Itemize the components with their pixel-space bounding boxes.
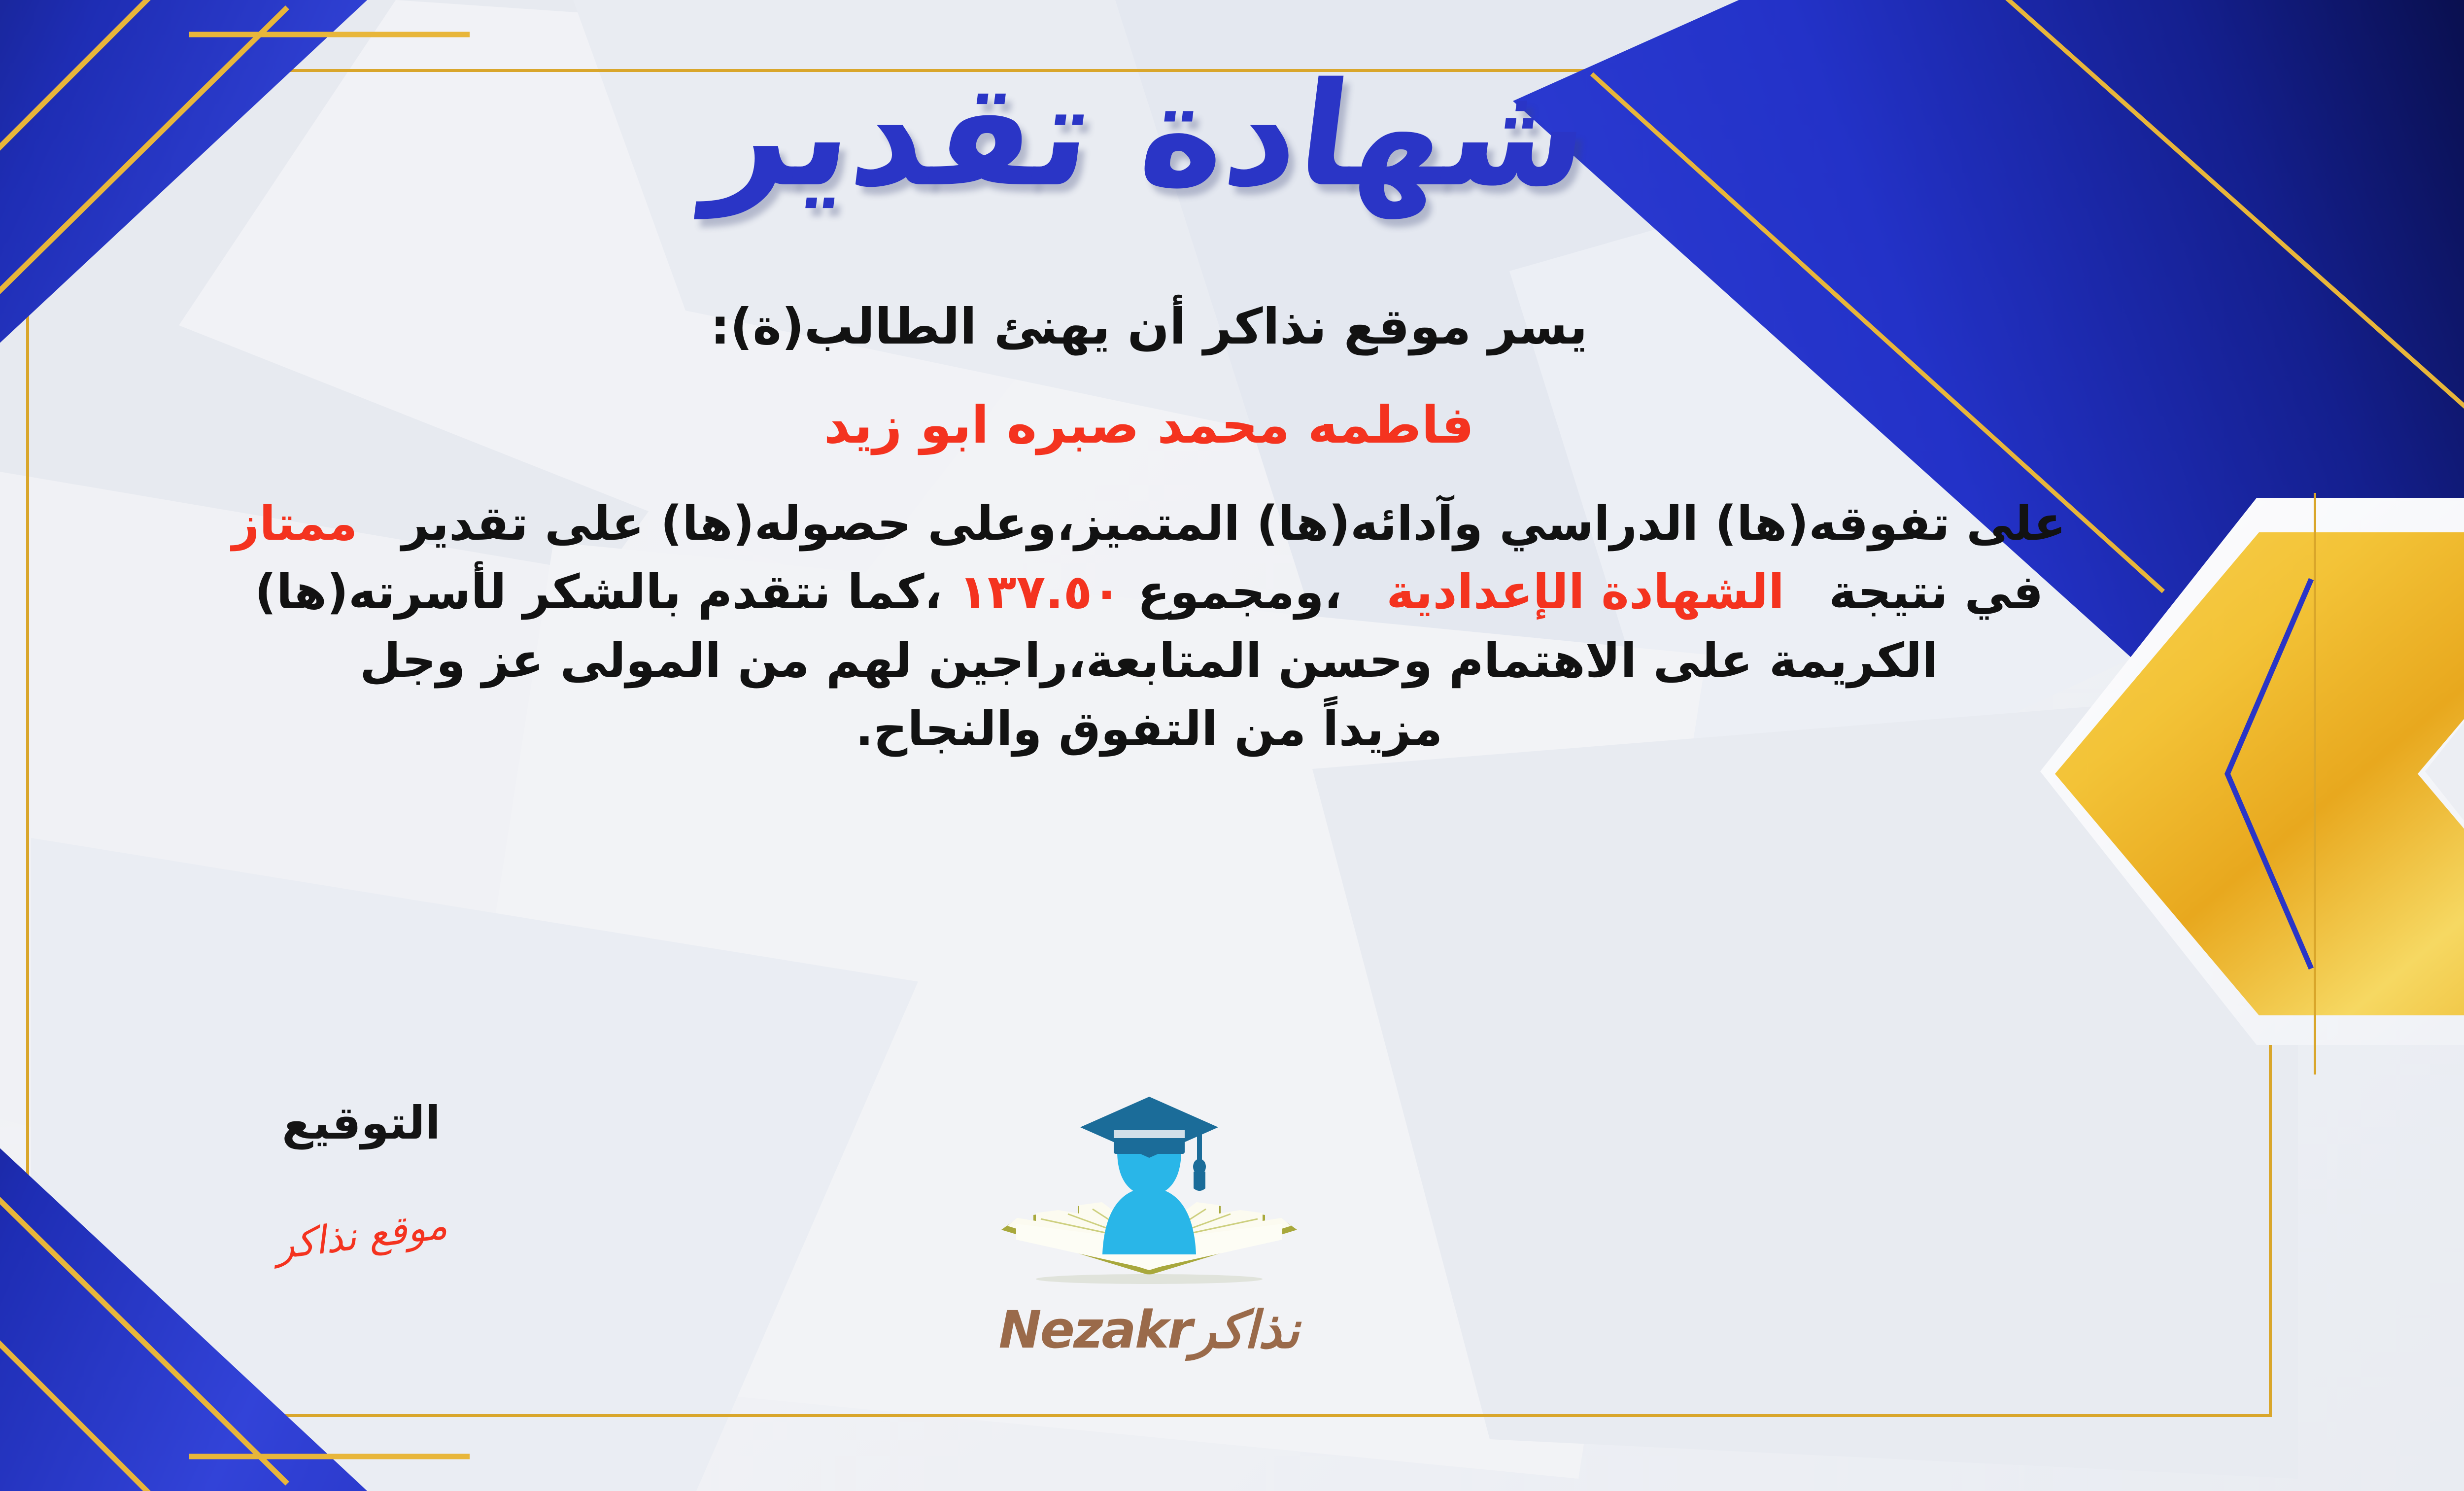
title-area: شهادة تقدير [0,64,2464,207]
student-name: فاطمه محمد صبره ابو زيد [28,388,2270,462]
logo-wordmark: نذاكرNezakr [962,1300,1336,1360]
exam-prefix: في نتيجة [1829,564,2043,620]
site-logo: نذاكرNezakr [962,1092,1336,1360]
signature-script: موقع نذاكر [273,1203,450,1268]
total-prefix: ،ومجموع [1137,564,1342,620]
achievement-text: على تفوقه(ها) الدراسي وآدائه(ها) المتميز… [402,496,2066,551]
signature-label: التوقيع [208,1097,514,1149]
thanks-text: ،كما نتقدم بالشكر لأسرته(ها) [255,564,942,620]
intro-line: يسر موقع نذاكر أن يهنئ الطالب(ة): [28,291,2270,362]
certificate-title: شهادة تقدير [701,64,1597,207]
signature-block: التوقيع موقع نذاكر [208,1097,514,1258]
achievement-line: على تفوقه(ها) الدراسي وآدائه(ها) المتميز… [28,489,2270,558]
exam-result-line: في نتيجةالشهادة الإعدادية،ومجموع ١٣٧.٥٠ … [28,558,2270,626]
logo-name-arabic: نذاكر [1191,1300,1299,1360]
family-thanks-line: الكريمة على الاهتمام وحسن المتابعة،راجين… [28,626,2270,695]
graduation-book-logo-icon [987,1092,1312,1309]
total-score: ١٣٧.٥٠ [958,564,1121,620]
certificate-body: يسر موقع نذاكر أن يهنئ الطالب(ة): فاطمه … [28,291,2270,764]
certificate-footer: التوقيع موقع نذاكر [0,1097,2464,1402]
grade-value: ممتاز [232,496,357,551]
student-figure [1102,1151,1196,1254]
logo-name-latin: Nezakr [998,1300,1191,1360]
exam-name: الشهادة الإعدادية [1386,564,1784,620]
certificate-page: شهادة تقدير يسر موقع نذاكر أن يهنئ الطال… [0,0,2464,1491]
closing-line: مزيداً من التفوق والنجاح. [28,695,2270,763]
